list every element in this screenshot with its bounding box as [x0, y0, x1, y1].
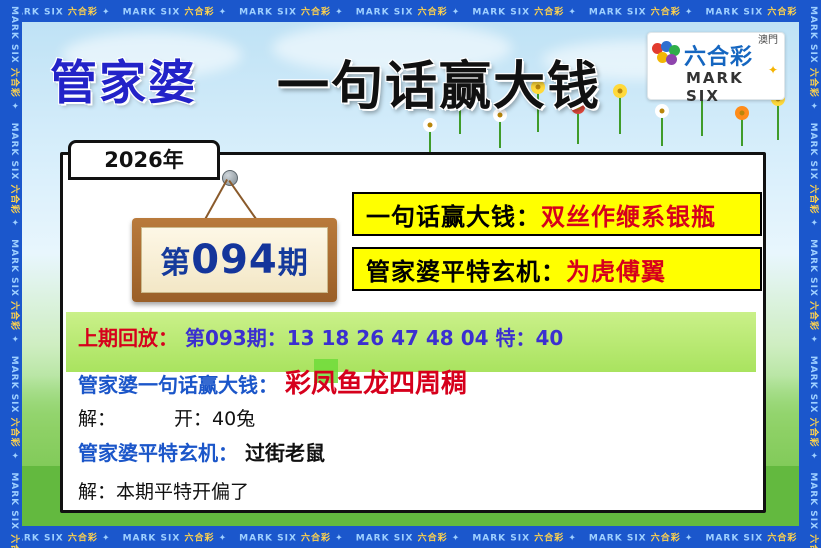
border-bottom: MARK SIX 六合彩 ✦MARK SIX 六合彩 ✦MARK SIX 六合彩… — [0, 526, 821, 548]
row-phrase-value: 双丝作缏系银瓶 — [541, 197, 716, 232]
issue-prefix: 第 — [160, 246, 191, 281]
page-title-left: 管家婆 — [50, 44, 197, 113]
border-bottom-text: MARK SIX 六合彩 ✦MARK SIX 六合彩 ✦MARK SIX 六合彩… — [0, 531, 821, 544]
border-top: MARK SIX 六合彩 ✦MARK SIX 六合彩 ✦MARK SIX 六合彩… — [0, 0, 821, 22]
last-xuanji-label: 管家婆平特玄机： — [78, 441, 238, 465]
issue-sign-face: 第094期 — [141, 227, 328, 293]
logo-title-cn: 六合彩 — [684, 39, 753, 71]
content-area: 管家婆 一句话赢大钱 澳門 六合彩 MARK SIX ✦ 2026年 — [22, 22, 799, 526]
recap-value: 第093期：13 18 26 47 48 04 特：40 — [185, 326, 563, 350]
row-phrase-label: 一句话赢大钱： — [366, 197, 541, 232]
issue-sign-text: 第094期 — [142, 237, 327, 283]
issue-number: 094 — [191, 237, 278, 283]
highlight-row-xuanji: 管家婆平特玄机： 为虎傅翼 — [352, 247, 762, 291]
answer-one-value: 开：40兔 — [174, 408, 255, 430]
answer-one-line: 解：开：40兔 — [78, 404, 255, 431]
page-root: MARK SIX 六合彩 ✦MARK SIX 六合彩 ✦MARK SIX 六合彩… — [0, 0, 821, 548]
flower-icon — [612, 84, 628, 134]
recap-line: 上期回放： 第093期：13 18 26 47 48 04 特：40 — [78, 322, 563, 351]
page-title-right: 一句话赢大钱 — [277, 44, 601, 119]
row-xuanji-value: 为虎傅翼 — [566, 252, 666, 287]
recap-label: 上期回放： — [78, 326, 178, 350]
row-xuanji-label: 管家婆平特玄机： — [366, 252, 566, 287]
border-right-text: MARK SIX 六合彩 ✦MARK SIX 六合彩 ✦MARK SIX 六合彩… — [799, 0, 821, 548]
issue-suffix: 期 — [278, 246, 309, 281]
lottery-balls-icon — [652, 41, 680, 69]
border-left: MARK SIX 六合彩 ✦MARK SIX 六合彩 ✦MARK SIX 六合彩… — [0, 0, 22, 548]
flower-icon — [422, 118, 438, 152]
last-xuanji-value: 过街老鼠 — [245, 441, 325, 465]
highlight-row-phrase: 一句话赢大钱： 双丝作缏系银瓶 — [352, 192, 762, 236]
sparkle-icon: ✦ — [768, 63, 778, 77]
border-top-text: MARK SIX 六合彩 ✦MARK SIX 六合彩 ✦MARK SIX 六合彩… — [0, 5, 821, 18]
last-xuanji-line: 管家婆平特玄机： 过街老鼠 — [78, 437, 325, 466]
logo-region: 澳門 — [758, 31, 778, 46]
answer-one-label: 解： — [78, 408, 116, 430]
issue-sign: 第094期 — [132, 218, 337, 302]
mark-six-logo[interactable]: 澳門 六合彩 MARK SIX ✦ — [647, 32, 785, 100]
border-right: MARK SIX 六合彩 ✦MARK SIX 六合彩 ✦MARK SIX 六合彩… — [799, 0, 821, 548]
last-phrase-label: 管家婆一句话赢大钱： — [78, 373, 278, 397]
answer-two-line: 解：本期平特开偏了 — [78, 477, 249, 504]
flower-icon — [654, 104, 670, 146]
flower-icon — [734, 106, 750, 146]
last-phrase-value: 彩凤鱼龙四周稠 — [285, 369, 467, 399]
last-phrase-line: 管家婆一句话赢大钱： 彩凤鱼龙四周稠 — [78, 363, 467, 400]
year-tab: 2026年 — [68, 140, 220, 180]
border-left-text: MARK SIX 六合彩 ✦MARK SIX 六合彩 ✦MARK SIX 六合彩… — [0, 0, 22, 548]
